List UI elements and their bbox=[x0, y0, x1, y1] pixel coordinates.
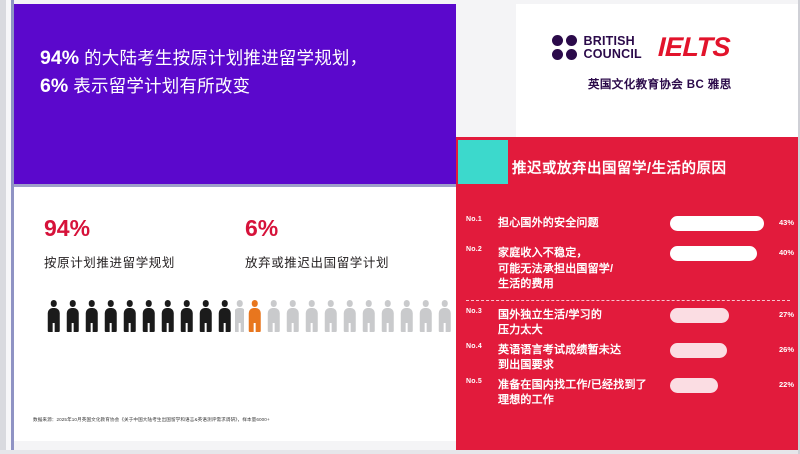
logo-chinese-subtitle: 英国文化教育协会 BC 雅思 bbox=[588, 76, 732, 92]
person-icon bbox=[284, 300, 301, 332]
reasons-divider bbox=[466, 300, 790, 301]
person-icon bbox=[64, 300, 81, 332]
teal-accent-square bbox=[458, 140, 508, 184]
reason-rank: No.4 bbox=[456, 343, 498, 350]
stats-card: 94% 按原计划推进留学规划 6% 放弃或推迟出国留学计划 bbox=[14, 187, 456, 441]
stat-right-caption: 放弃或推迟出国留学计划 bbox=[245, 255, 389, 271]
pictogram-right bbox=[246, 300, 453, 332]
person-icon bbox=[159, 300, 176, 332]
pictogram-left bbox=[45, 300, 244, 332]
reason-bar bbox=[670, 308, 729, 323]
reason-pct: 22% bbox=[779, 380, 794, 389]
reason-label: 英语语言考试成绩暂未达到出国要求 bbox=[498, 343, 670, 374]
brand-line-2: COUNCIL bbox=[584, 48, 642, 61]
reasons-list: No.1担心国外的安全问题43%No.2家庭收入不稳定，可能无法承担出国留学/生… bbox=[456, 214, 800, 411]
person-icon bbox=[303, 300, 320, 332]
british-council-wordmark: BRITISH COUNCIL bbox=[584, 35, 642, 61]
four-dots-icon bbox=[552, 35, 577, 60]
person-icon bbox=[121, 300, 138, 332]
reason-label: 家庭收入不稳定，可能无法承担出国留学/生活的费用 bbox=[498, 246, 670, 293]
reason-meter: 26% bbox=[670, 343, 800, 358]
logo-band bbox=[516, 4, 800, 137]
source-footnote: 数据来源：2025年10月英国文化教育协会《关于中国大陆考生出国留学和语言&英语… bbox=[33, 417, 270, 423]
person-icon bbox=[379, 300, 396, 332]
person-icon bbox=[45, 300, 62, 332]
reason-rank: No.3 bbox=[456, 308, 498, 315]
logo-row: BRITISH COUNCIL IELTS bbox=[552, 34, 730, 61]
person-icon bbox=[197, 300, 214, 332]
brand-line-1: BRITISH bbox=[584, 35, 642, 48]
reason-label: 准备在国内找工作/已经找到了理想的工作 bbox=[498, 378, 670, 409]
person-icon bbox=[265, 300, 282, 332]
reason-pct: 27% bbox=[779, 310, 794, 319]
person-icon bbox=[102, 300, 119, 332]
person-icon bbox=[417, 300, 434, 332]
reason-rank: No.5 bbox=[456, 378, 498, 385]
reason-meter: 22% bbox=[670, 378, 800, 393]
person-icon bbox=[216, 300, 233, 332]
reason-label: 国外独立生活/学习的压力太大 bbox=[498, 308, 670, 339]
reason-bar bbox=[670, 343, 727, 358]
stat-right-pct: 6% bbox=[245, 215, 389, 241]
reason-bar bbox=[670, 216, 764, 231]
hero-panel: 94% 的大陆考生按原计划推进留学规划， 6% 表示留学计划有所改变 bbox=[14, 4, 456, 184]
reason-row[interactable]: No.5准备在国内找工作/已经找到了理想的工作22% bbox=[456, 376, 800, 411]
reason-bar bbox=[670, 246, 757, 261]
person-icon bbox=[178, 300, 195, 332]
hero-pct-1: 94% bbox=[40, 47, 79, 69]
bottom-strip bbox=[0, 450, 800, 454]
reasons-panel-title: 推迟或放弃出国留学/生活的原因 bbox=[512, 157, 727, 178]
hero-line-1: 94% 的大陆考生按原计划推进留学规划， bbox=[40, 44, 440, 72]
reason-rank: No.1 bbox=[456, 216, 498, 223]
hero-headline: 94% 的大陆考生按原计划推进留学规划， 6% 表示留学计划有所改变 bbox=[40, 44, 440, 100]
hero-text-1: 的大陆考生按原计划推进留学规划， bbox=[79, 48, 367, 68]
person-icon bbox=[246, 300, 263, 332]
reason-meter: 43% bbox=[670, 216, 800, 231]
person-icon bbox=[322, 300, 339, 332]
reason-row[interactable]: No.4英语语言考试成绩暂未达到出国要求26% bbox=[456, 341, 800, 376]
stat-block-left: 94% 按原计划推进留学规划 bbox=[44, 215, 175, 271]
reason-row[interactable]: No.1担心国外的安全问题43% bbox=[456, 214, 800, 244]
reason-meter: 27% bbox=[670, 308, 800, 323]
person-icon bbox=[360, 300, 377, 332]
person-icon bbox=[341, 300, 358, 332]
reason-row[interactable]: No.2家庭收入不稳定，可能无法承担出国留学/生活的费用40% bbox=[456, 244, 800, 295]
person-icon bbox=[398, 300, 415, 332]
reason-pct: 43% bbox=[779, 218, 794, 227]
british-council-logo: BRITISH COUNCIL bbox=[552, 35, 642, 61]
reason-bar bbox=[670, 378, 718, 393]
stat-left-pct: 94% bbox=[44, 215, 175, 241]
reason-label: 担心国外的安全问题 bbox=[498, 216, 670, 232]
stat-left-caption: 按原计划推进留学规划 bbox=[44, 255, 175, 271]
person-icon bbox=[140, 300, 157, 332]
person-icon bbox=[83, 300, 100, 332]
reason-rank: No.2 bbox=[456, 246, 498, 253]
hero-text-2: 表示留学计划有所改变 bbox=[68, 76, 250, 96]
reason-row[interactable]: No.3国外独立生活/学习的压力太大27% bbox=[456, 306, 800, 341]
person-icon bbox=[235, 300, 244, 332]
slide-root: 94% 的大陆考生按原计划推进留学规划， 6% 表示留学计划有所改变 BRITI… bbox=[0, 0, 800, 454]
hero-line-2: 6% 表示留学计划有所改变 bbox=[40, 72, 440, 100]
ielts-wordmark: IELTS bbox=[657, 34, 730, 61]
person-icon bbox=[436, 300, 453, 332]
reason-pct: 26% bbox=[779, 345, 794, 354]
reason-meter: 40% bbox=[670, 246, 800, 261]
stat-block-right: 6% 放弃或推迟出国留学计划 bbox=[245, 215, 389, 271]
hero-pct-2: 6% bbox=[40, 75, 68, 97]
reason-pct: 40% bbox=[779, 248, 794, 257]
